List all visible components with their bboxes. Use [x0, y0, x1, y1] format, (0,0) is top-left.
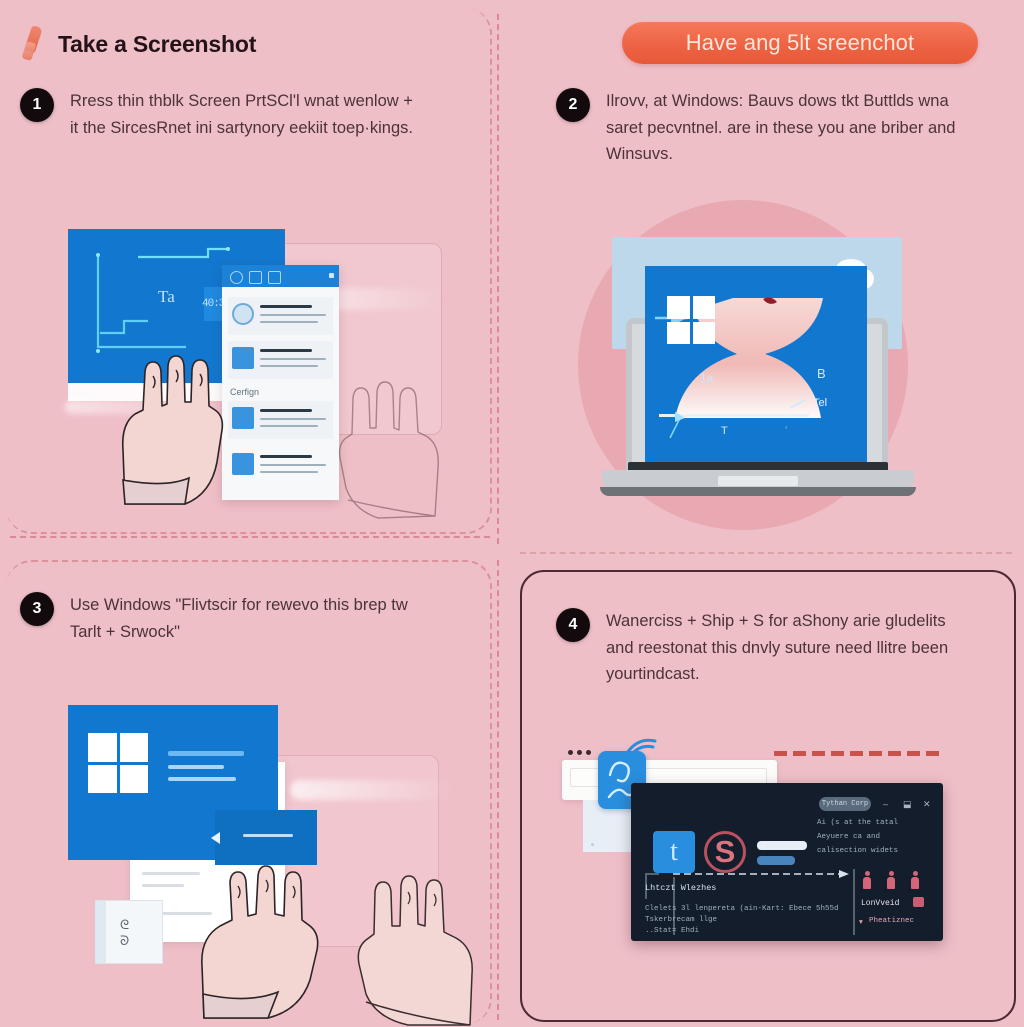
- windows-logo-icon: [88, 733, 148, 793]
- info-line: Ai (s at the tatal: [817, 819, 898, 827]
- badge-icon: [913, 897, 924, 907]
- infographic-poster: Take a Screenshot Have ang 5lt sreenchot…: [0, 0, 1024, 1024]
- svg-text:B: B: [817, 366, 826, 381]
- hand-illustration-faint: [330, 350, 455, 520]
- step-2-badge: 2: [556, 88, 590, 122]
- laptop-foot: [600, 487, 916, 496]
- vertical-divider-top: [497, 14, 499, 544]
- minimize-icon[interactable]: –: [883, 799, 888, 809]
- list-item[interactable]: [228, 341, 333, 379]
- svg-text:ʼ: ʼ: [785, 426, 787, 437]
- close-icon[interactable]: [329, 273, 334, 278]
- app-tile-t[interactable]: t: [653, 831, 695, 873]
- step-1: 1 Rress thin thblk Screen PrtSCl'l wnat …: [20, 88, 422, 141]
- step-2: 2 Ilrovv, at Windows: Bauvs dows tkt But…: [556, 88, 958, 168]
- list-item[interactable]: [228, 297, 333, 335]
- step-4-text: Wanerciss + Ship + S for aShony arie glu…: [606, 608, 958, 688]
- arrow-icon: [673, 869, 853, 879]
- app-titlebar: [222, 265, 339, 287]
- info-line: Aeyuere ca and: [817, 833, 880, 841]
- person-icon: [863, 871, 871, 889]
- laptop-trackpad: [718, 476, 798, 486]
- list-item[interactable]: [228, 447, 333, 485]
- cloud-icon[interactable]: [249, 271, 262, 284]
- chevron-down-icon: ▾: [859, 917, 863, 927]
- svg-text:1a: 1a: [700, 371, 714, 385]
- body-line: Clelets 3l lenpereta (ain-Kart: Ebece 5h…: [645, 905, 839, 913]
- vertical-divider-bottom: [497, 560, 499, 1020]
- hand-illustration-right: [348, 842, 488, 1027]
- screen-label-ta: Ta: [158, 287, 175, 307]
- close-icon[interactable]: ✕: [923, 799, 931, 810]
- hand-illustration: [186, 830, 336, 1020]
- step-4: 4 Wanerciss + Ship + S for aShony arie g…: [556, 608, 958, 688]
- progress-bar-partial: [757, 856, 795, 865]
- header-pill-label: Have ang 5lt sreenchot: [686, 30, 914, 56]
- refresh-icon[interactable]: [230, 271, 243, 284]
- note-card: ᘓ ᘐ: [95, 900, 163, 964]
- progress-bar-full: [757, 841, 807, 850]
- person-icon: [887, 871, 895, 889]
- glow-streak: [290, 780, 455, 800]
- step-3-text: Use Windows "Flivtscir for rewevo this b…: [70, 592, 422, 645]
- step-2-text: Ilrovv, at Windows: Bauvs dows tkt Buttl…: [606, 88, 958, 168]
- info-line: calisection widets: [817, 847, 898, 855]
- list-icon[interactable]: [268, 271, 281, 284]
- step-1-badge: 1: [20, 88, 54, 122]
- window-dots: [568, 750, 591, 755]
- windows-logo-icon: [667, 296, 715, 344]
- header-pill-badge[interactable]: Have ang 5lt sreenchot: [622, 22, 978, 64]
- step-3-badge: 3: [20, 592, 54, 626]
- horizontal-divider-right: [520, 552, 1012, 554]
- step-1-text: Rress thin thblk Screen PrtSCl'l wnat we…: [70, 88, 422, 141]
- svg-text:Tel: Tel: [813, 397, 827, 409]
- dashed-top-bar: [774, 751, 944, 756]
- logo-s: S: [704, 831, 746, 873]
- page-title: Take a Screenshot: [58, 31, 256, 58]
- code-window: t S Tythan Corp – ⬓ ✕ Ai (s at the tatal…: [631, 783, 943, 941]
- list-item[interactable]: [228, 401, 333, 439]
- avatar: [232, 303, 254, 325]
- side-label: LonVveid: [861, 899, 899, 908]
- step-4-badge: 4: [556, 608, 590, 642]
- body-line: Tskerbrecam llge: [645, 916, 717, 924]
- body-heading: Lhtczt Wlezhes: [645, 883, 716, 893]
- maximize-icon[interactable]: ⬓: [903, 799, 912, 810]
- horizontal-divider-left: [10, 536, 490, 538]
- svg-text:T: T: [721, 425, 728, 437]
- person-icon: [911, 871, 919, 889]
- side-sub: Pheatiznec: [869, 917, 914, 925]
- laptop-screen: 1a B Tel T ʼ: [645, 266, 867, 466]
- brush-icon: [20, 26, 46, 62]
- step-3: 3 Use Windows "Flivtscir for rewevo this…: [20, 592, 422, 645]
- window-chip-label: Tythan Corp: [819, 797, 871, 811]
- page-title-group: Take a Screenshot: [20, 26, 256, 62]
- body-line: ..Stat= Ehdi: [645, 927, 699, 935]
- hand-illustration: [105, 328, 240, 508]
